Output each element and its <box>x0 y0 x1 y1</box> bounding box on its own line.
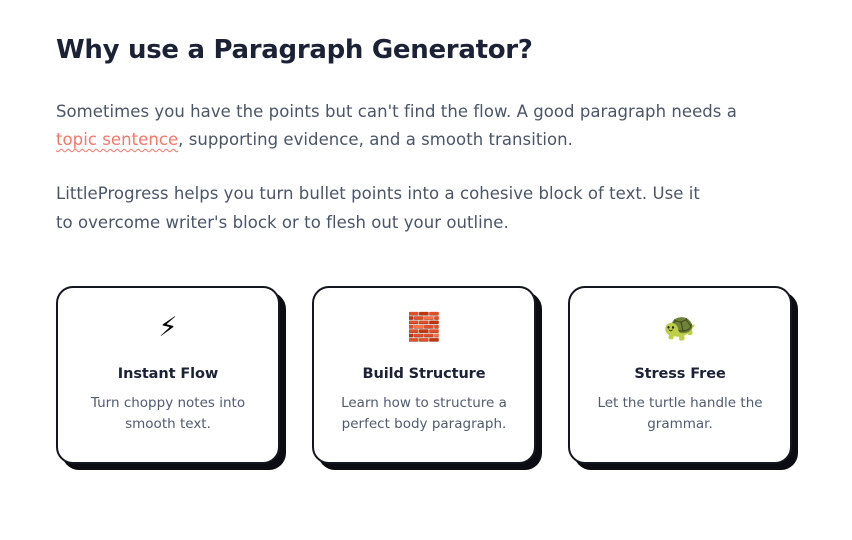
feature-card-description: Turn choppy notes into smooth text. <box>73 393 263 434</box>
intro-paragraph-text-before: Sometimes you have the points but can't … <box>56 102 737 121</box>
highlighted-term-topic-sentence[interactable]: topic sentence <box>56 130 178 149</box>
feature-card-instant-flow[interactable]: ⚡ Instant Flow Turn choppy notes into sm… <box>56 286 280 464</box>
intro-paragraph: Sometimes you have the points but can't … <box>56 98 778 155</box>
page-title: Why use a Paragraph Generator? <box>56 28 796 67</box>
feature-card-stress-free[interactable]: 🐢 Stress Free Let the turtle handle the … <box>568 286 792 464</box>
feature-card-title: Build Structure <box>363 366 486 382</box>
bricks-icon: 🧱 <box>407 310 441 344</box>
lightning-bolt-icon: ⚡ <box>159 310 178 344</box>
feature-card-description: Let the turtle handle the grammar. <box>585 393 775 434</box>
feature-card-title: Instant Flow <box>118 366 218 382</box>
feature-card-title: Stress Free <box>634 366 725 382</box>
turtle-icon: 🐢 <box>663 310 697 344</box>
feature-card-build-structure[interactable]: 🧱 Build Structure Learn how to structure… <box>312 286 536 464</box>
description-paragraph: LittleProgress helps you turn bullet poi… <box>56 180 716 237</box>
feature-card-description: Learn how to structure a perfect body pa… <box>329 393 519 434</box>
page-container: Why use a Paragraph Generator? Sometimes… <box>0 0 852 540</box>
intro-paragraph-text-after: , supporting evidence, and a smooth tran… <box>178 130 573 149</box>
feature-card-row: ⚡ Instant Flow Turn choppy notes into sm… <box>56 286 796 464</box>
